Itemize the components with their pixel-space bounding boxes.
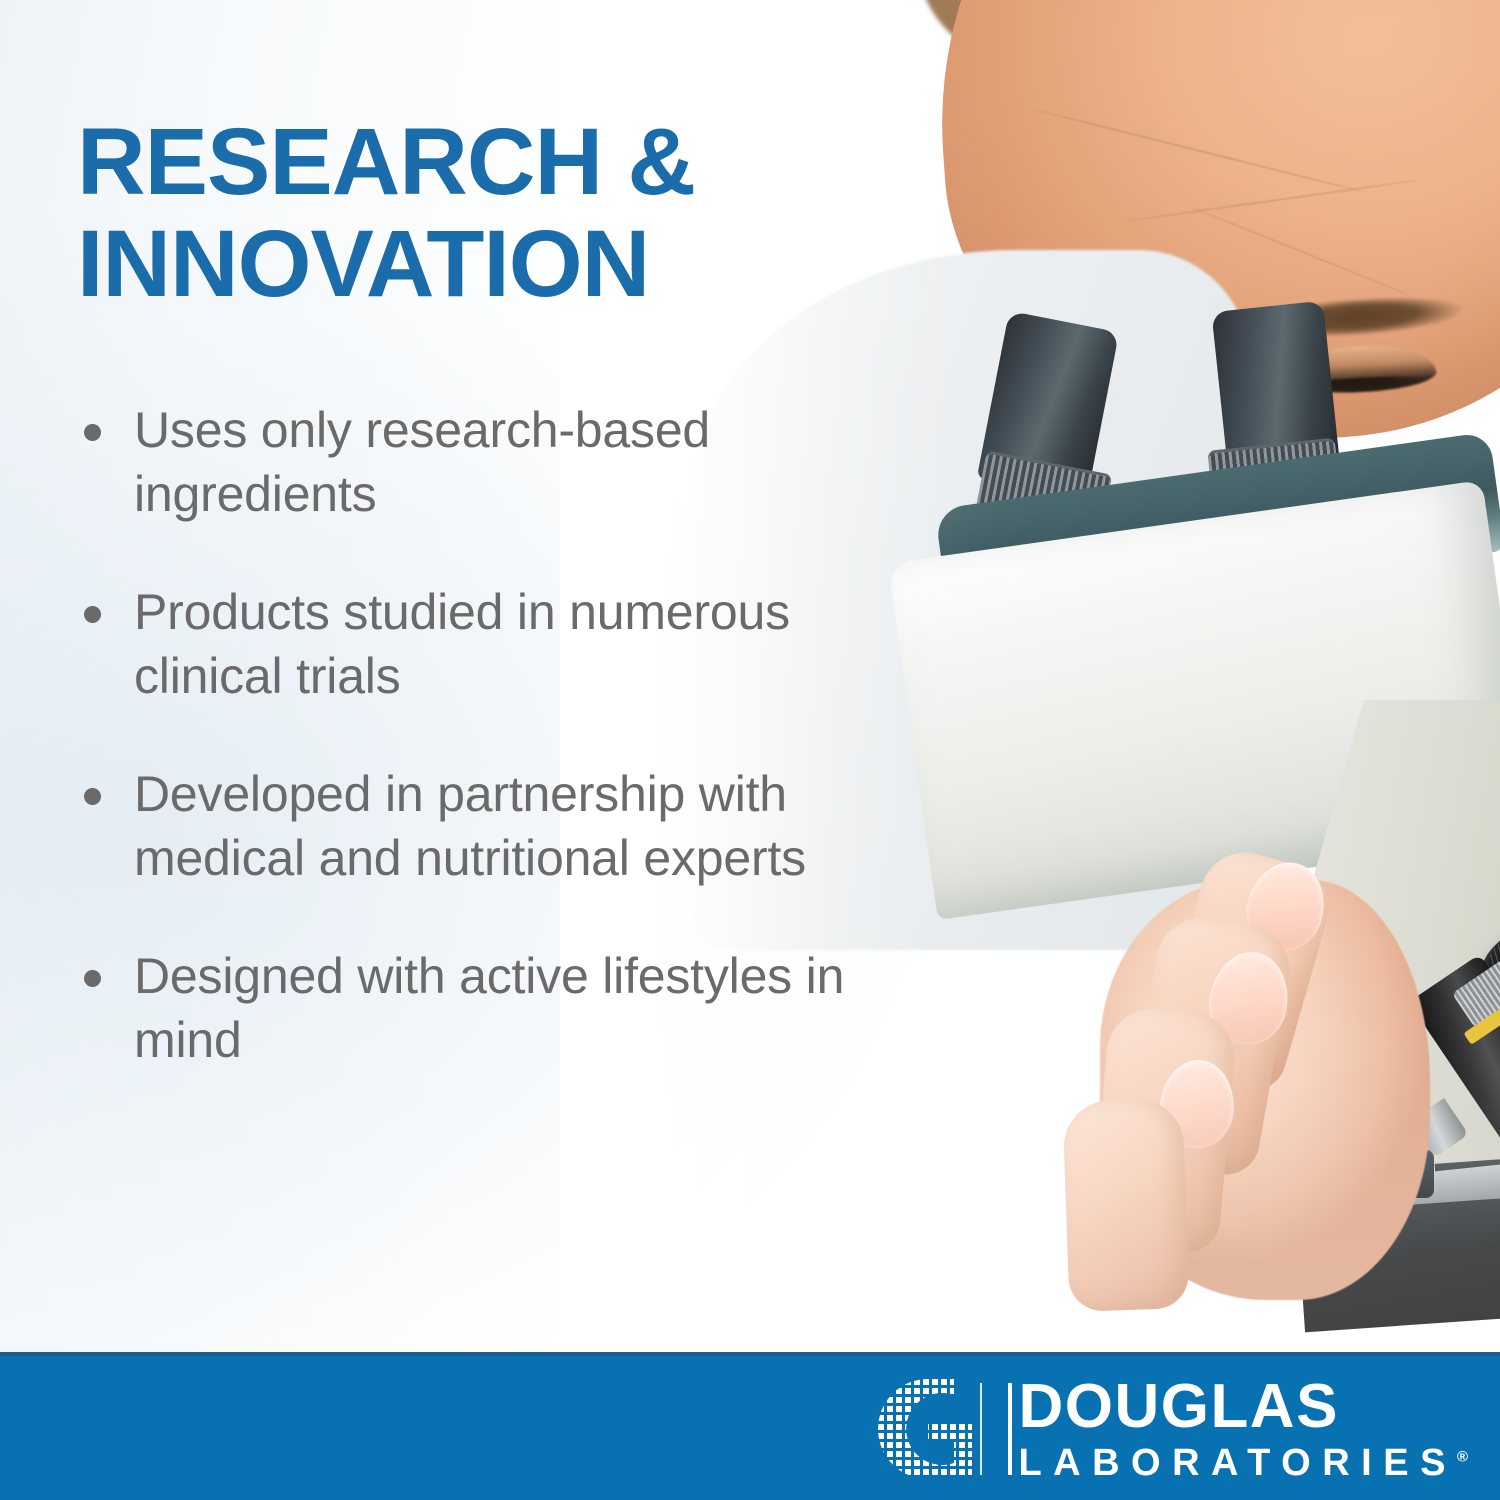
list-item-label: Uses only research-based ingredients xyxy=(134,402,710,522)
list-item: Developed in partnership with medical an… xyxy=(74,762,854,890)
bullet-dot-icon xyxy=(84,788,101,805)
registered-trademark-icon: ® xyxy=(1457,1448,1468,1465)
page-title-line-2: INNOVATION xyxy=(77,211,649,317)
page-title: RESEARCH & INNOVATION xyxy=(77,112,837,315)
bullet-dot-icon xyxy=(84,970,101,987)
brand-name-primary: DOUGLAS xyxy=(1018,1376,1468,1438)
finger-little xyxy=(1062,1098,1189,1312)
list-item-label: Designed with active lifestyles in mind xyxy=(134,948,844,1068)
list-item-label: Products studied in numerous clinical tr… xyxy=(134,584,790,704)
page-title-line-1: RESEARCH & xyxy=(77,109,695,215)
brand-wordmark: DOUGLAS LABORATORIES® xyxy=(1018,1376,1468,1482)
logo-divider-thin xyxy=(980,1383,982,1475)
footer-bar: DOUGLAS LABORATORIES® xyxy=(0,1352,1500,1500)
list-item: Designed with active lifestyles in mind xyxy=(74,944,854,1072)
poster-canvas: RESEARCH & INNOVATION Uses only research… xyxy=(0,0,1500,1500)
benefits-list: Uses only research-based ingredients Pro… xyxy=(74,398,854,1072)
list-item-label: Developed in partnership with medical an… xyxy=(134,766,806,886)
brand-name-secondary-label: LABORATORIES xyxy=(1018,1442,1457,1484)
list-item: Uses only research-based ingredients xyxy=(74,398,854,526)
bullet-dot-icon xyxy=(84,424,101,441)
bullet-dot-icon xyxy=(84,606,101,623)
brand-name-secondary: LABORATORIES® xyxy=(1018,1444,1468,1482)
logo-divider xyxy=(1008,1383,1012,1475)
douglas-grid-disc-logo-icon xyxy=(876,1377,980,1481)
list-item: Products studied in numerous clinical tr… xyxy=(74,580,854,708)
brand-logo: DOUGLAS LABORATORIES® xyxy=(876,1374,1468,1484)
